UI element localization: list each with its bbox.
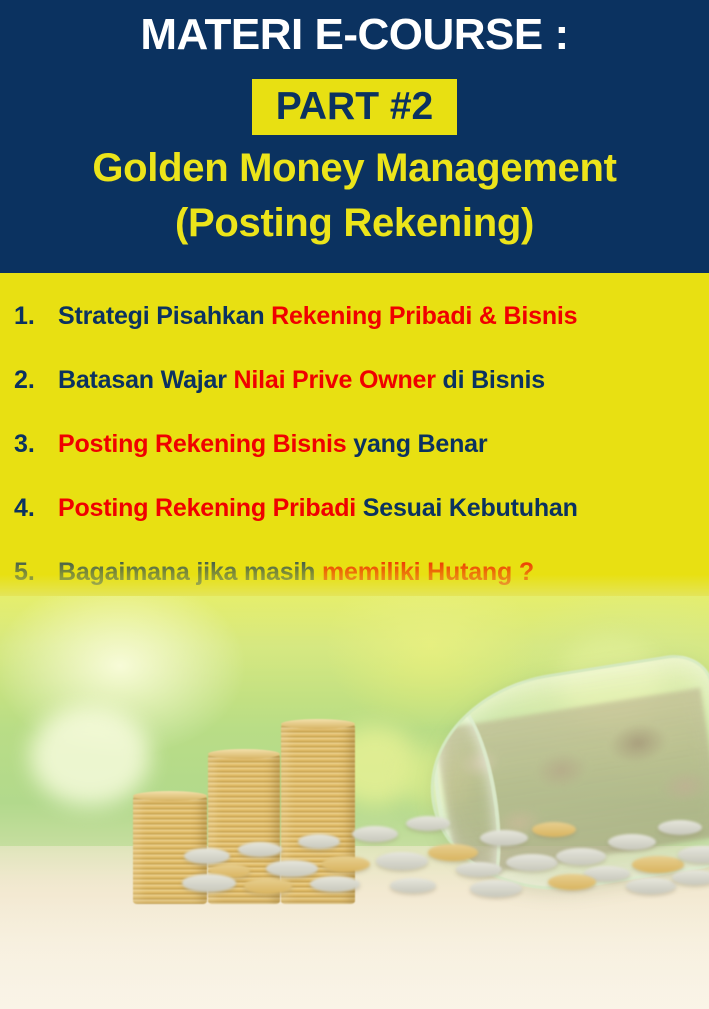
list-item-text: Posting Rekening Bisnis yang Benar [58,430,487,459]
list-item-plain: di Bisnis [436,366,545,394]
list-item-number: 3. [14,430,58,459]
spilled-coin [658,820,702,835]
list-item-text: Batasan Wajar Nilai Prive Owner di Bisni… [58,366,545,395]
spilled-coin [298,834,340,849]
spilled-coin [266,860,318,877]
spilled-coin [182,874,236,892]
subtitle-line-1: Golden Money Management [0,148,709,188]
list-item-text: Bagaimana jika masih memiliki Hutang ? [58,558,534,587]
spilled-coin [480,830,528,846]
spilled-coin [470,880,522,897]
list-item-number: 1. [14,302,58,331]
spilled-coin [608,834,656,850]
spilled-coin [626,878,676,894]
list-item-highlight: memiliki Hutang ? [322,558,534,586]
spilled-coin [456,862,502,877]
list-item-number: 4. [14,494,58,523]
spilled-coin [376,852,428,870]
spilled-coin [310,876,360,892]
spilled-coin [322,856,370,872]
spilled-coin [244,878,292,894]
list-item-highlight: Posting Rekening Bisnis [58,430,347,458]
list-item-plain: Batasan Wajar [58,366,234,394]
list-item: 5.Bagaimana jika masih memiliki Hutang ? [14,558,709,588]
spilled-coin [548,874,596,890]
list-item-number: 5. [14,558,58,587]
spilled-coin [556,848,606,865]
list-item-plain: yang Benar [347,430,488,458]
list-item: 1.Strategi Pisahkan Rekening Pribadi & B… [14,302,709,332]
spilled-coin [184,848,230,864]
list-item-number: 2. [14,366,58,395]
bokeh-highlight [30,706,150,806]
topic-list-band: 1.Strategi Pisahkan Rekening Pribadi & B… [0,273,709,620]
list-item-plain: Strategi Pisahkan [58,302,271,330]
list-item-text: Strategi Pisahkan Rekening Pribadi & Bis… [58,302,577,331]
list-item-highlight: Nilai Prive Owner [234,366,436,394]
part-badge-row: PART #2 [0,79,709,135]
list-item-plain: Bagaimana jika masih [58,558,322,586]
list-item: 3.Posting Rekening Bisnis yang Benar [14,430,709,460]
coins-photo [0,596,709,1009]
list-item-highlight: Rekening Pribadi & Bisnis [271,302,577,330]
list-item: 2.Batasan Wajar Nilai Prive Owner di Bis… [14,366,709,396]
list-item-plain: Sesuai Kebutuhan [356,494,578,522]
header-banner: MATERI E-COURSE : PART #2 Golden Money M… [0,0,709,273]
list-item: 4.Posting Rekening Pribadi Sesuai Kebutu… [14,494,709,524]
spilled-coin [238,842,282,857]
spilled-coin [532,822,576,837]
list-item-highlight: Posting Rekening Pribadi [58,494,356,522]
subtitle-line-2: (Posting Rekening) [0,203,709,243]
spilled-coin [428,844,478,861]
spilled-coin [632,856,684,873]
part-number-badge: PART #2 [252,79,458,135]
spilled-coins [180,786,709,906]
poster-root: MATERI E-COURSE : PART #2 Golden Money M… [0,0,709,1009]
spilled-coin [672,870,709,885]
page-title: MATERI E-COURSE : [0,13,709,57]
spilled-coin [406,816,450,831]
spilled-coin [506,854,558,871]
spilled-coin [390,878,436,893]
spilled-coin [352,826,398,842]
spilled-coin [678,846,709,863]
list-item-text: Posting Rekening Pribadi Sesuai Kebutuha… [58,494,578,523]
